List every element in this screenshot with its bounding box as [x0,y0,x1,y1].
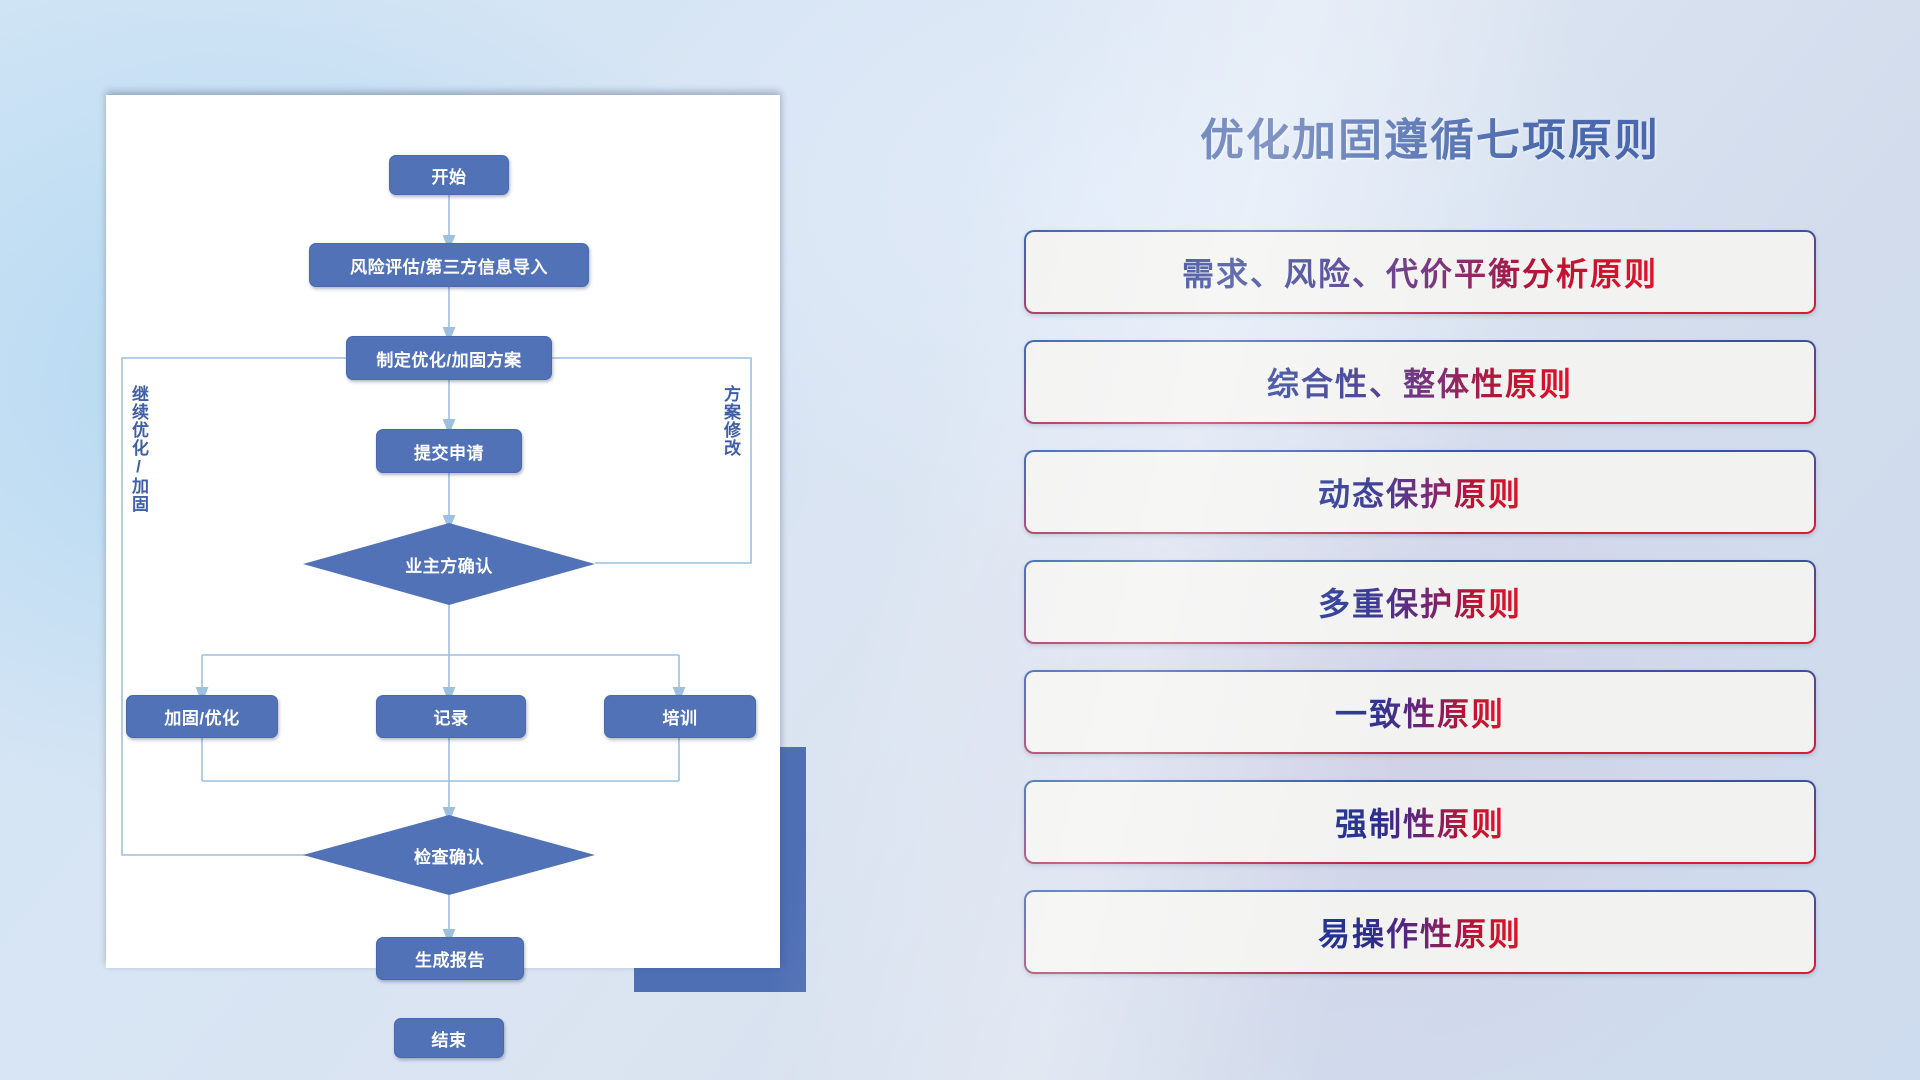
node-submit-application[interactable]: 提交申请 [376,429,522,473]
node-training[interactable]: 培训 [604,695,756,738]
principle-label: 多重保护原则 [1318,579,1522,625]
node-make-plan[interactable]: 制定优化/加固方案 [346,336,552,380]
principle-card-2[interactable]: 综合性、整体性原则 [1024,340,1816,424]
principle-label: 需求、风险、代价平衡分析原则 [1182,249,1658,295]
node-submit-application-label: 提交申请 [414,439,484,464]
node-generate-report[interactable]: 生成报告 [376,937,524,980]
slide-canvas: 开始 风险评估/第三方信息导入 制定优化/加固方案 提交申请 业主方确认 加固/… [0,0,1920,1080]
node-owner-confirm[interactable]: 业主方确认 [303,523,595,605]
card-inner: 综合性、整体性原则 [1026,342,1814,422]
node-record[interactable]: 记录 [376,695,526,738]
node-owner-confirm-label: 业主方确认 [405,552,493,577]
card-inner: 易操作性原则 [1026,892,1814,972]
node-risk-assessment-label: 风险评估/第三方信息导入 [350,253,548,278]
node-reinforce-optimize-label: 加固/优化 [164,704,239,729]
flowchart-panel: 开始 风险评估/第三方信息导入 制定优化/加固方案 提交申请 业主方确认 加固/… [106,95,780,968]
principle-label: 一致性原则 [1335,689,1505,735]
node-end[interactable]: 结束 [394,1018,504,1058]
principles-list: 需求、风险、代价平衡分析原则 综合性、整体性原则 动态保护原则 多重保护原则 一… [1024,230,1816,1000]
node-record-label: 记录 [434,704,469,729]
principle-card-4[interactable]: 多重保护原则 [1024,560,1816,644]
node-make-plan-label: 制定优化/加固方案 [376,346,521,371]
principle-label: 动态保护原则 [1318,469,1522,515]
principle-card-7[interactable]: 易操作性原则 [1024,890,1816,974]
edge-label-left-loop: 继续优化/加固 [130,385,147,513]
principle-label: 强制性原则 [1335,799,1505,845]
node-check-confirm[interactable]: 检查确认 [303,815,595,895]
node-check-confirm-label: 检查确认 [414,843,484,868]
node-reinforce-optimize[interactable]: 加固/优化 [126,695,278,738]
node-start[interactable]: 开始 [389,155,509,195]
principle-card-6[interactable]: 强制性原则 [1024,780,1816,864]
node-generate-report-label: 生成报告 [415,946,485,971]
card-inner: 需求、风险、代价平衡分析原则 [1026,232,1814,312]
node-training-label: 培训 [663,704,698,729]
principle-label: 综合性、整体性原则 [1267,359,1573,405]
principle-card-1[interactable]: 需求、风险、代价平衡分析原则 [1024,230,1816,314]
principle-label: 易操作性原则 [1318,909,1522,955]
node-start-label: 开始 [432,163,467,188]
node-end-label: 结束 [432,1026,467,1051]
edge-label-right-loop: 方案修改 [722,385,739,457]
flowchart: 开始 风险评估/第三方信息导入 制定优化/加固方案 提交申请 业主方确认 加固/… [106,95,780,968]
card-inner: 强制性原则 [1026,782,1814,862]
card-inner: 一致性原则 [1026,672,1814,752]
principle-card-3[interactable]: 动态保护原则 [1024,450,1816,534]
principle-card-5[interactable]: 一致性原则 [1024,670,1816,754]
node-risk-assessment[interactable]: 风险评估/第三方信息导入 [309,243,589,287]
card-inner: 多重保护原则 [1026,562,1814,642]
card-inner: 动态保护原则 [1026,452,1814,532]
page-title: 优化加固遵循七项原则 [1020,104,1840,168]
